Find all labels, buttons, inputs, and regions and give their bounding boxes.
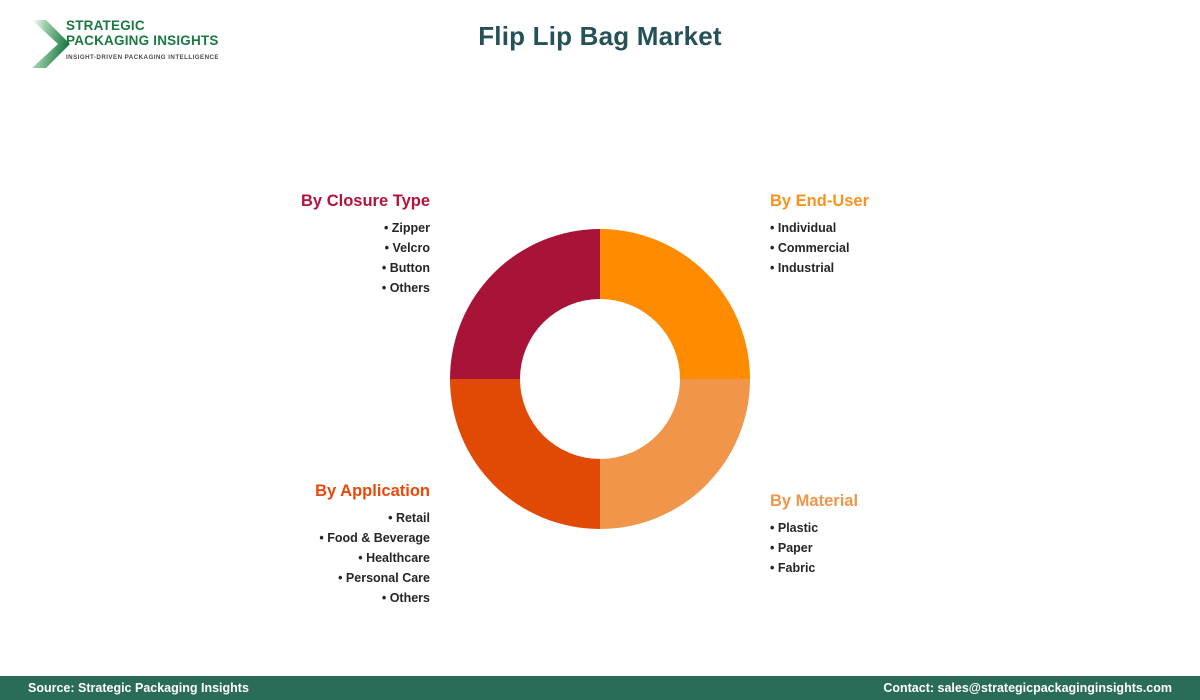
segment-list-closure-type: Zipper Velcro Button Others bbox=[228, 218, 430, 298]
segment-heading-material: By Material bbox=[770, 492, 990, 511]
list-item: Others bbox=[228, 278, 430, 298]
list-item: Healthcare bbox=[218, 548, 430, 568]
list-item: Paper bbox=[770, 538, 990, 558]
donut-slice-material bbox=[600, 379, 750, 529]
segment-list-end-user: Individual Commercial Industrial bbox=[770, 218, 990, 278]
segment-list-material: Plastic Paper Fabric bbox=[770, 518, 990, 578]
segment-heading-end-user: By End-User bbox=[770, 192, 990, 211]
list-item: Velcro bbox=[228, 238, 430, 258]
footer-source: Source: Strategic Packaging Insights bbox=[28, 681, 249, 695]
logo-tagline: INSIGHT-DRIVEN PACKAGING INTELLIGENCE bbox=[66, 54, 219, 61]
list-item: Retail bbox=[218, 508, 430, 528]
footer-contact: Contact: sales@strategicpackaginginsight… bbox=[883, 681, 1172, 695]
list-item: Food & Beverage bbox=[218, 528, 430, 548]
donut-slice-end-user bbox=[600, 229, 750, 379]
list-item: Individual bbox=[770, 218, 990, 238]
footer-bar: Source: Strategic Packaging Insights Con… bbox=[0, 676, 1200, 700]
donut-slice-application bbox=[450, 379, 600, 529]
list-item: Zipper bbox=[228, 218, 430, 238]
list-item: Plastic bbox=[770, 518, 990, 538]
list-item: Personal Care bbox=[218, 568, 430, 588]
donut-chart bbox=[450, 229, 750, 529]
segment-block-material: By Material Plastic Paper Fabric bbox=[770, 492, 990, 578]
segment-heading-closure-type: By Closure Type bbox=[228, 192, 430, 211]
page-title: Flip Lip Bag Market bbox=[0, 21, 1200, 52]
list-item: Industrial bbox=[770, 258, 990, 278]
list-item: Others bbox=[218, 588, 430, 608]
segment-list-application: Retail Food & Beverage Healthcare Person… bbox=[218, 508, 430, 608]
list-item: Commercial bbox=[770, 238, 990, 258]
segment-heading-application: By Application bbox=[218, 482, 430, 501]
list-item: Fabric bbox=[770, 558, 990, 578]
segment-block-closure-type: By Closure Type Zipper Velcro Button Oth… bbox=[228, 192, 430, 298]
segment-block-application: By Application Retail Food & Beverage He… bbox=[218, 482, 430, 608]
list-item: Button bbox=[228, 258, 430, 278]
segment-block-end-user: By End-User Individual Commercial Indust… bbox=[770, 192, 990, 278]
donut-slice-closure-type bbox=[450, 229, 600, 379]
